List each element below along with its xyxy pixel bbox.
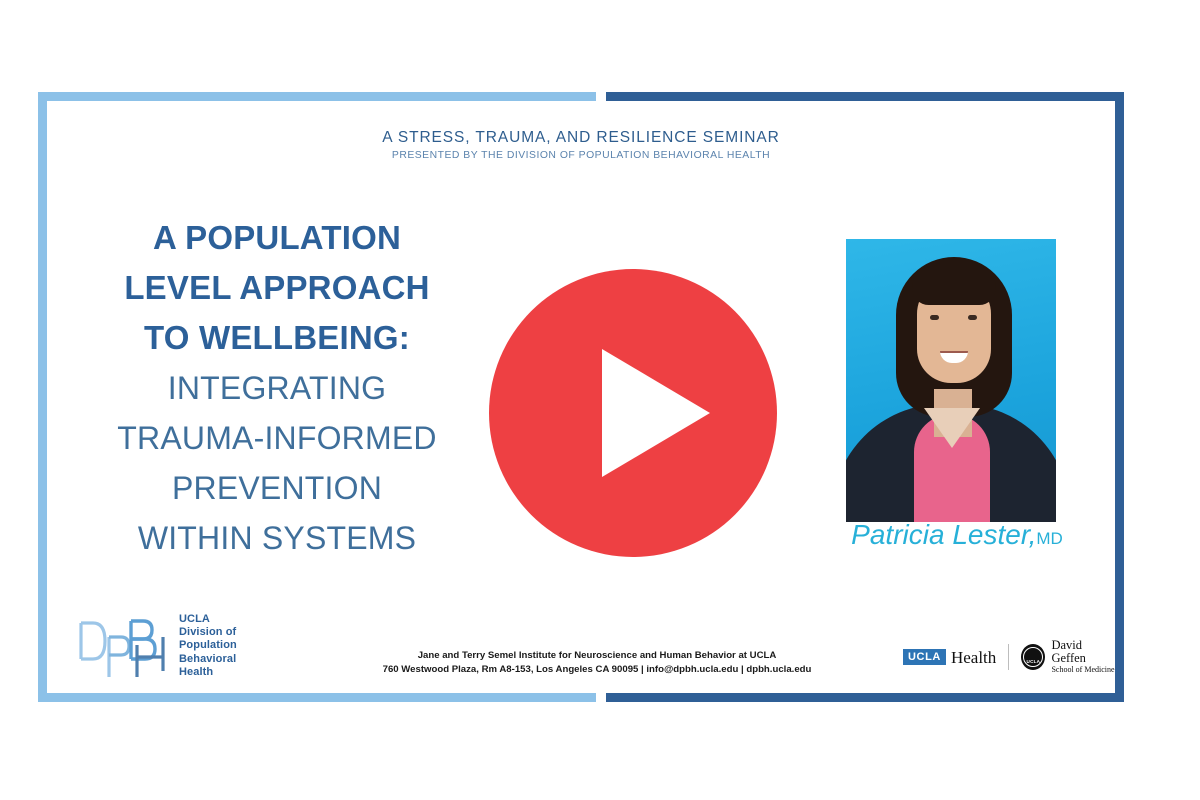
play-button[interactable] xyxy=(489,269,777,557)
footer-line-2[interactable]: 760 Westwood Plaza, Rm A8-153, Los Angel… xyxy=(327,663,867,677)
speaker-full-name: Patricia Lester, xyxy=(851,519,1036,550)
geffen-line-1: David Geffen xyxy=(1051,639,1115,665)
geffen-line-2: School of Medicine xyxy=(1051,665,1115,675)
seminar-presenter-line: PRESENTED BY THE DIVISION OF POPULATION … xyxy=(47,150,1115,161)
speaker-degree: MD xyxy=(1036,529,1062,548)
title-line-1: A POPULATION xyxy=(67,213,487,263)
subtitle-line-4: WITHIN SYSTEMS xyxy=(67,513,487,563)
ucla-seal-text: UCLA xyxy=(1027,659,1041,664)
border-right xyxy=(1115,92,1124,702)
logo-divider xyxy=(1008,644,1009,670)
portrait-neckline xyxy=(924,408,980,448)
border-bottom-dark xyxy=(606,693,1124,702)
ucla-seal-icon: UCLA xyxy=(1021,644,1045,670)
border-bottom-light xyxy=(38,693,596,702)
footer-line-1: Jane and Terry Semel Institute for Neuro… xyxy=(327,649,867,663)
play-triangle-icon xyxy=(602,349,710,477)
border-left xyxy=(38,92,47,702)
dpbh-logo-text: UCLA Division of Population Behavioral H… xyxy=(179,613,237,679)
subtitle-line-2: TRAUMA-INFORMED xyxy=(67,413,487,463)
dpbh-text-line-3: Population xyxy=(179,639,237,652)
footer-address: Jane and Terry Semel Institute for Neuro… xyxy=(327,649,867,677)
portrait-eye-right xyxy=(968,315,977,320)
border-top-dark xyxy=(606,92,1124,101)
seminar-slide: A STRESS, TRAUMA, AND RESILIENCE SEMINAR… xyxy=(38,92,1124,702)
seminar-eyebrow: A STRESS, TRAUMA, AND RESILIENCE SEMINAR xyxy=(47,129,1115,147)
slide-content: A STRESS, TRAUMA, AND RESILIENCE SEMINAR… xyxy=(47,101,1115,693)
title-line-3: TO WELLBEING: xyxy=(67,313,487,363)
geffen-wordmark: David Geffen School of Medicine xyxy=(1051,639,1115,675)
dpbh-logo: UCLA Division of Population Behavioral H… xyxy=(67,609,297,683)
dpbh-text-line-2: Division of xyxy=(179,626,237,639)
dpbh-text-line-5: Health xyxy=(179,666,237,679)
subtitle-line-1: INTEGRATING xyxy=(67,363,487,413)
speaker-portrait xyxy=(846,239,1056,522)
title-line-2: LEVEL APPROACH xyxy=(67,263,487,313)
david-geffen-logo: UCLA David Geffen School of Medicine xyxy=(1021,639,1115,675)
health-wordmark: Health xyxy=(951,649,996,666)
partner-logos: UCLA Health UCLA David Geffen School of … xyxy=(903,639,1115,675)
dpbh-text-line-1: UCLA xyxy=(179,613,237,626)
page-title: A POPULATION LEVEL APPROACH TO WELLBEING… xyxy=(67,213,487,563)
border-top-light xyxy=(38,92,596,101)
speaker-name: Patricia Lester,MD xyxy=(807,519,1107,551)
ucla-health-logo: UCLA Health xyxy=(903,649,996,666)
subtitle-line-3: PREVENTION xyxy=(67,463,487,513)
portrait-eye-left xyxy=(930,315,939,320)
dpbh-monogram-icon xyxy=(75,615,171,679)
portrait-fringe xyxy=(912,265,996,305)
ucla-wordmark-box: UCLA xyxy=(903,649,946,665)
dpbh-text-line-4: Behavioral xyxy=(179,653,237,666)
